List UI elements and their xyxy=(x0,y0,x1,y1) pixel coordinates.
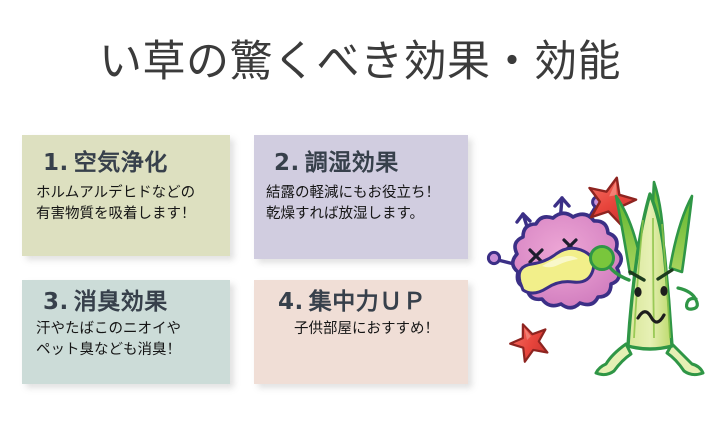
benefit-card-heading: 空気浄化 xyxy=(74,150,168,176)
benefit-card-title: 4.集中力ＵＰ xyxy=(278,290,468,315)
infographic-page: い草の驚くべき効果・効能 1.空気浄化 ホルムアルデヒドなどの 有害物質を吸着し… xyxy=(0,0,720,429)
benefit-card-title: 1.空気浄化 xyxy=(43,151,230,176)
benefit-card-heading: 消臭効果 xyxy=(74,289,168,315)
benefit-card-body-line1: 子供部屋におすすめ！ xyxy=(294,319,468,340)
benefit-card-body-line2: ペット臭なども消臭！ xyxy=(36,340,230,361)
igusa-hand-left-icon xyxy=(591,247,614,270)
benefit-card-number: 4. xyxy=(278,289,304,315)
page-title: い草の驚くべき効果・効能 xyxy=(0,38,720,89)
benefit-card-concentration-up: 4.集中力ＵＰ 子供部屋におすすめ！ xyxy=(254,280,468,384)
benefit-card-number: 2. xyxy=(274,150,300,176)
benefit-card-humidity-control: 2.調湿効果 結露の軽減にもお役立ち！ 乾燥すれば放湿します。 xyxy=(254,135,468,259)
benefit-card-number: 3. xyxy=(43,289,69,315)
benefit-card-air-purification: 1.空気浄化 ホルムアルデヒドなどの 有害物質を吸着します！ xyxy=(22,135,230,256)
benefit-card-body-line1: 結露の軽減にもお役立ち！ xyxy=(266,183,468,204)
igusa-arm-right xyxy=(678,288,697,309)
benefit-card-heading: 集中力ＵＰ xyxy=(309,289,427,315)
benefit-card-title: 2.調湿効果 xyxy=(274,151,468,176)
germ-hand-icon xyxy=(488,252,499,263)
benefit-card-number: 1. xyxy=(43,150,69,176)
illustration-germ-vs-igusa xyxy=(478,176,720,391)
benefit-card-body-line2: 有害物質を吸着します！ xyxy=(36,204,230,225)
benefit-card-deodorizing: 3.消臭効果 汗やたばこのニオイや ペット臭なども消臭！ xyxy=(22,280,230,384)
benefit-card-body-line1: ホルムアルデヒドなどの xyxy=(36,183,230,204)
benefit-card-heading: 調湿効果 xyxy=(305,150,399,176)
benefit-card-body-line1: 汗やたばこのニオイや xyxy=(36,319,230,340)
benefit-card-body-line2: 乾燥すれば放湿します。 xyxy=(266,204,468,225)
benefit-card-title: 3.消臭効果 xyxy=(43,290,230,315)
star-small xyxy=(505,317,553,364)
